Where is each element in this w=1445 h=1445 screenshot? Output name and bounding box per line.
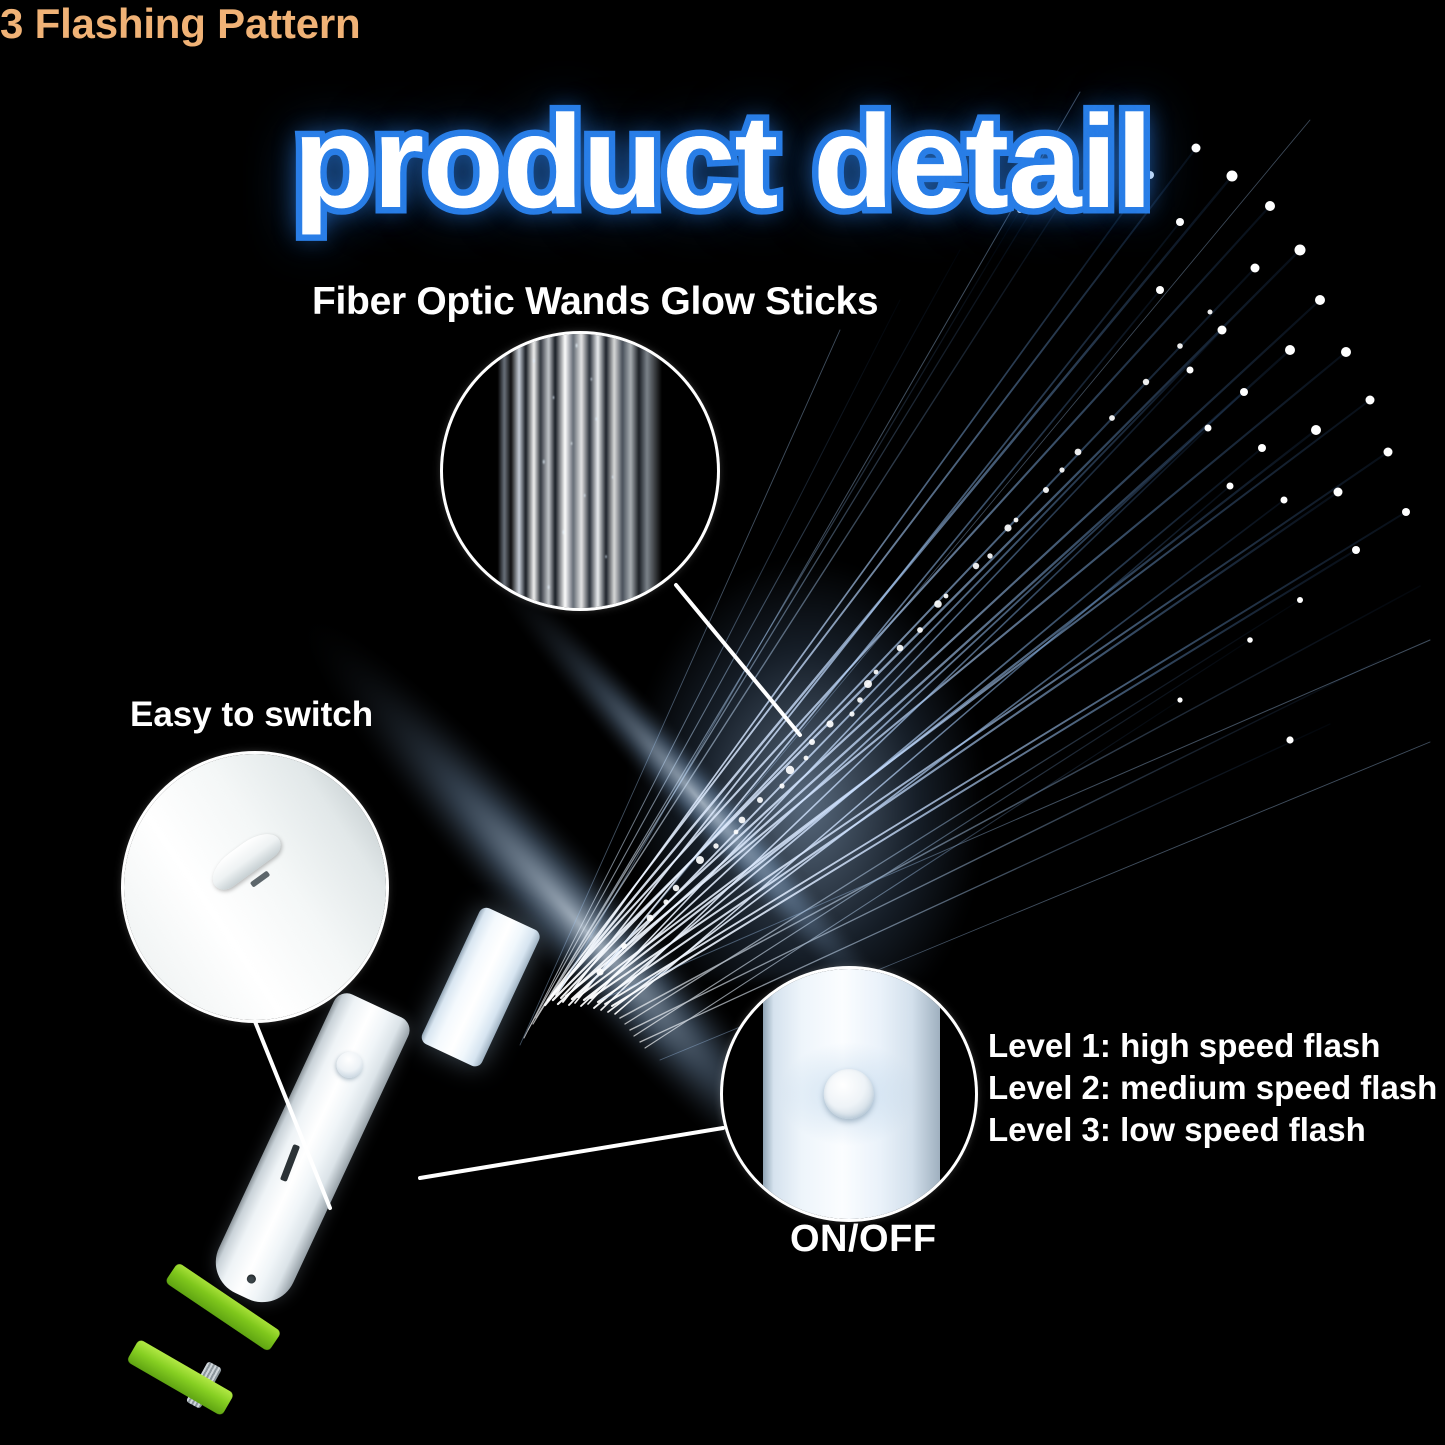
wand-lanyard-strap-lower: [126, 1339, 234, 1417]
on-off-label: ON/OFF: [790, 1218, 937, 1261]
callout-switch: [124, 754, 386, 1020]
callout-fiber-tip: [443, 334, 717, 608]
wand-upper-tube: [419, 905, 542, 1069]
callout-switch-image: [124, 754, 386, 1020]
flashing-pattern-heading: 3 Flashing Pattern: [0, 0, 1445, 48]
on-off-push-button: [824, 1069, 874, 1119]
wand-lanyard-strap: [165, 1262, 282, 1352]
flash-level-2: Level 2: medium speed flash: [988, 1069, 1437, 1107]
flash-level-1: Level 1: high speed flash: [988, 1027, 1380, 1065]
product-subtitle: Fiber Optic Wands Glow Sticks: [312, 280, 878, 324]
wand-lanyard-hole: [245, 1273, 257, 1285]
wand-switch-slot: [280, 1144, 300, 1182]
fiber-strand-bundle: [498, 334, 662, 608]
flash-level-3: Level 3: low speed flash: [988, 1111, 1366, 1149]
page-title: product detail: [0, 96, 1445, 228]
product-detail-banner: product detail product detail Fiber Opti…: [0, 0, 1445, 1445]
switch-handle-body: [124, 754, 386, 1020]
wand-power-button: [332, 1048, 367, 1083]
easy-to-switch-label: Easy to switch: [130, 695, 373, 735]
callout-fiber-tip-image: [443, 334, 717, 608]
wand-handle: [205, 989, 415, 1314]
wand-lanyard-crimp: [186, 1361, 222, 1409]
callout-on-off-button: [723, 969, 975, 1219]
callout-on-off-image: [723, 969, 975, 1219]
